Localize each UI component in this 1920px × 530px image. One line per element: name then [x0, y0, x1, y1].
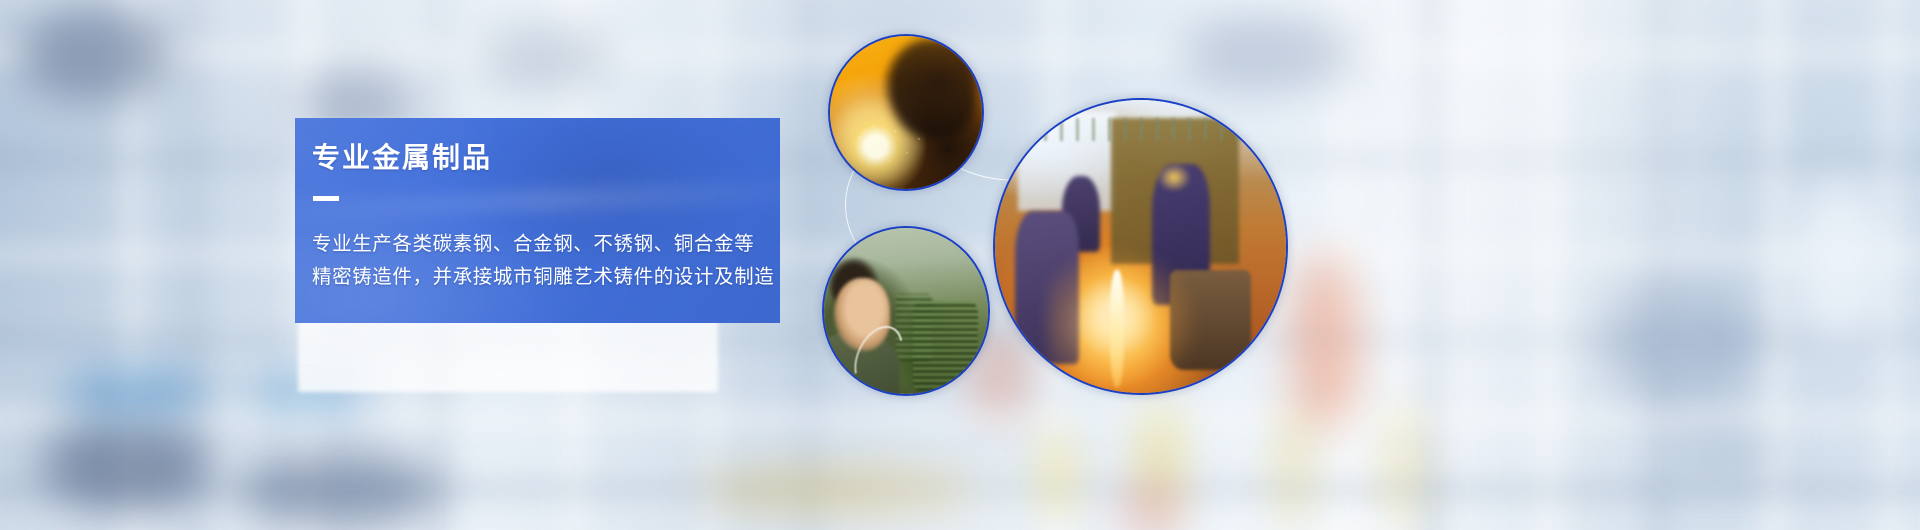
weld-sparks — [851, 116, 936, 168]
molten-pour-photo — [995, 100, 1286, 393]
wax-assembly-photo — [824, 228, 988, 394]
wax-assembly-photo-circle — [822, 226, 990, 396]
molten-metal-stream — [1110, 270, 1125, 387]
welding-photo-circle — [828, 34, 984, 191]
photo-collage — [0, 0, 1920, 530]
welding-photo — [830, 36, 982, 189]
hero-banner: 专业金属制品 专业生产各类碳素钢、合金钢、不锈钢、铜合金等 精密铸造件，并承接城… — [0, 0, 1920, 530]
molten-pour-photo-circle — [993, 98, 1288, 395]
overhead-rails — [1012, 118, 1239, 141]
worker-helmet — [1158, 164, 1190, 190]
